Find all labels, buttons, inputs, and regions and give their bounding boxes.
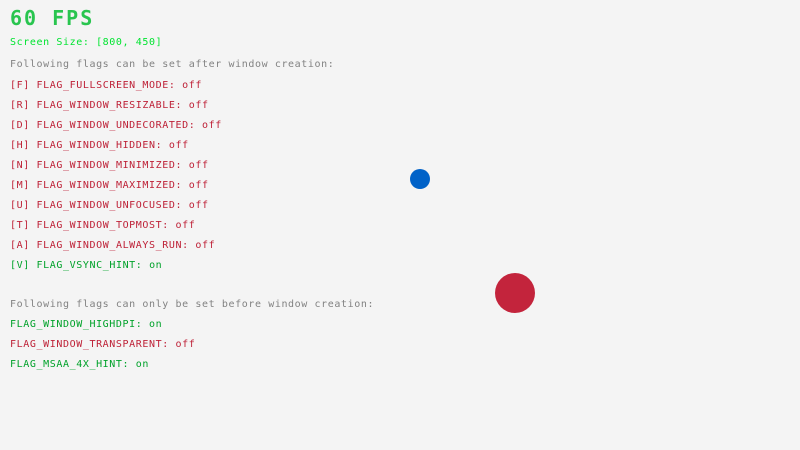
screen-size-label: Screen Size: [800, 450]: [10, 38, 162, 48]
flag-row[interactable]: [H] FLAG_WINDOW_HIDDEN: off: [10, 141, 189, 151]
flag-row[interactable]: [T] FLAG_WINDOW_TOPMOST: off: [10, 221, 195, 231]
section-header-before-creation: Following flags can only be set before w…: [10, 300, 374, 310]
flag-name: FLAG_WINDOW_TRANSPARENT:: [10, 339, 169, 350]
flag-shortcut-key: [M]: [10, 180, 30, 191]
flag-state-value: off: [182, 80, 202, 91]
flag-shortcut-key: [D]: [10, 120, 30, 131]
flag-row[interactable]: [M] FLAG_WINDOW_MAXIMIZED: off: [10, 181, 209, 191]
flag-shortcut-key: [A]: [10, 240, 30, 251]
raylib-window-canvas: 60 FPS Screen Size: [800, 450] Following…: [0, 0, 800, 450]
flag-name: FLAG_WINDOW_HIGHDPI:: [10, 319, 142, 330]
flag-state-value: on: [149, 260, 162, 271]
flag-row[interactable]: [N] FLAG_WINDOW_MINIMIZED: off: [10, 161, 209, 171]
flag-name: FLAG_WINDOW_UNFOCUSED:: [37, 200, 183, 211]
flag-row[interactable]: FLAG_WINDOW_TRANSPARENT: off: [10, 340, 195, 350]
flag-row[interactable]: [D] FLAG_WINDOW_UNDECORATED: off: [10, 121, 222, 131]
flag-name: FLAG_WINDOW_UNDECORATED:: [37, 120, 196, 131]
flag-row[interactable]: [U] FLAG_WINDOW_UNFOCUSED: off: [10, 201, 209, 211]
flag-state-value: off: [189, 180, 209, 191]
flag-shortcut-key: [H]: [10, 140, 30, 151]
flag-name: FLAG_WINDOW_RESIZABLE:: [37, 100, 183, 111]
flag-name: FLAG_MSAA_4X_HINT:: [10, 359, 129, 370]
flag-state-value: off: [169, 140, 189, 151]
flag-row[interactable]: FLAG_WINDOW_HIGHDPI: on: [10, 320, 162, 330]
flag-row[interactable]: FLAG_MSAA_4X_HINT: on: [10, 360, 149, 370]
flag-name: FLAG_WINDOW_MINIMIZED:: [37, 160, 183, 171]
flag-shortcut-key: [V]: [10, 260, 30, 271]
flag-state-value: off: [202, 120, 222, 131]
flag-state-value: off: [189, 100, 209, 111]
flag-row[interactable]: [A] FLAG_WINDOW_ALWAYS_RUN: off: [10, 241, 215, 251]
flag-name: FLAG_VSYNC_HINT:: [37, 260, 143, 271]
flag-state-value: off: [189, 200, 209, 211]
flag-name: FLAG_FULLSCREEN_MODE:: [37, 80, 176, 91]
flag-row[interactable]: [V] FLAG_VSYNC_HINT: on: [10, 261, 162, 271]
flag-name: FLAG_WINDOW_MAXIMIZED:: [37, 180, 183, 191]
flag-name: FLAG_WINDOW_HIDDEN:: [37, 140, 163, 151]
flag-shortcut-key: [N]: [10, 160, 30, 171]
flag-shortcut-key: [R]: [10, 100, 30, 111]
large-red-ball-shape: [495, 273, 535, 313]
flag-state-value: off: [195, 240, 215, 251]
flag-shortcut-key: [U]: [10, 200, 30, 211]
fps-counter: 60 FPS: [10, 8, 94, 28]
flag-shortcut-key: [T]: [10, 220, 30, 231]
section-header-after-creation: Following flags can be set after window …: [10, 60, 334, 70]
flag-row[interactable]: [F] FLAG_FULLSCREEN_MODE: off: [10, 81, 202, 91]
flag-name: FLAG_WINDOW_TOPMOST:: [37, 220, 169, 231]
small-blue-ball-shape: [410, 169, 430, 189]
flag-name: FLAG_WINDOW_ALWAYS_RUN:: [37, 240, 189, 251]
flag-state-value: on: [136, 359, 149, 370]
flag-row[interactable]: [R] FLAG_WINDOW_RESIZABLE: off: [10, 101, 209, 111]
flag-shortcut-key: [F]: [10, 80, 30, 91]
flag-state-value: off: [176, 339, 196, 350]
flag-state-value: off: [189, 160, 209, 171]
flag-state-value: off: [176, 220, 196, 231]
flag-state-value: on: [149, 319, 162, 330]
